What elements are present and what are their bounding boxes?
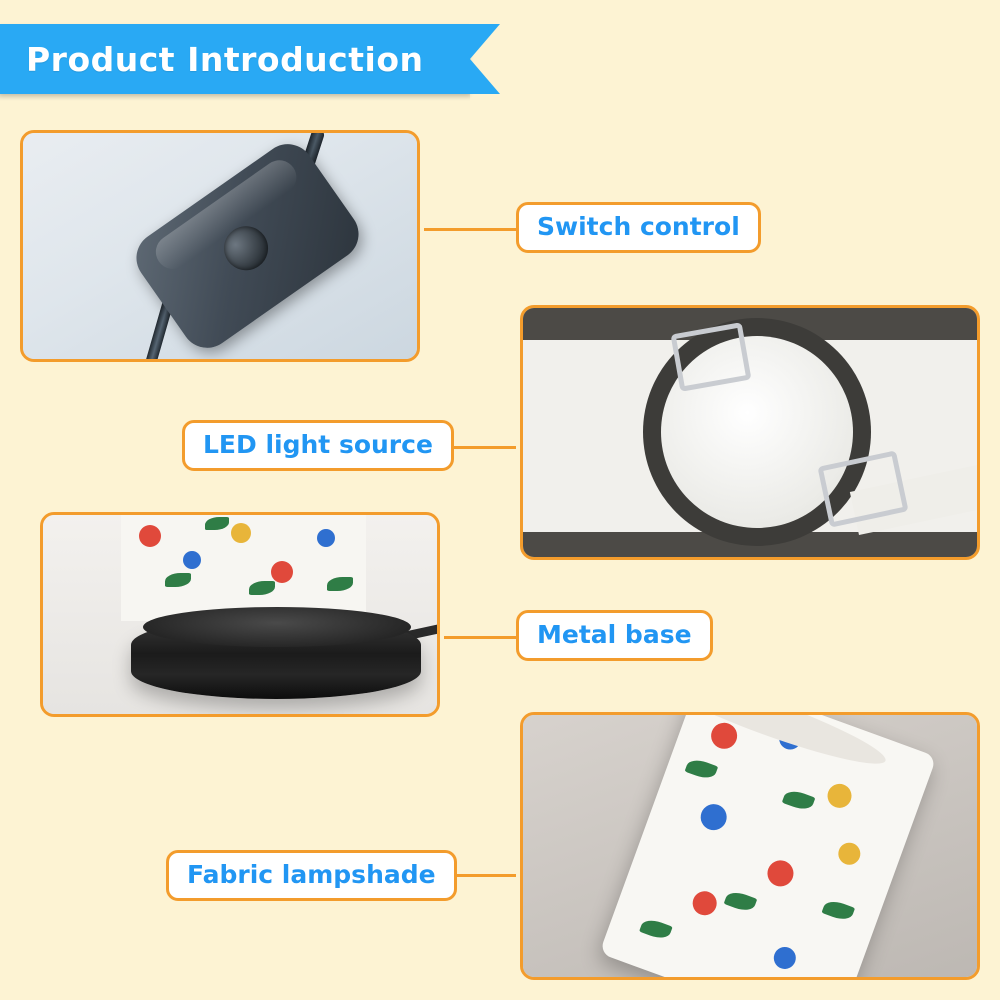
page-title: Product Introduction bbox=[0, 40, 424, 79]
flower-motif bbox=[771, 944, 799, 972]
led-light-source-photo bbox=[520, 305, 980, 560]
leaf-motif bbox=[821, 898, 855, 923]
leaf-motif bbox=[205, 517, 229, 530]
leaf-motif bbox=[639, 916, 673, 941]
flower-motif bbox=[183, 551, 201, 569]
metal-base-photo bbox=[40, 512, 440, 717]
shade-clip-icon-top bbox=[671, 322, 752, 392]
flower-motif bbox=[317, 529, 335, 547]
flower-motif bbox=[231, 523, 251, 543]
connector-metal-base bbox=[444, 636, 516, 639]
connector-switch-control bbox=[424, 228, 516, 231]
leaf-motif bbox=[782, 788, 816, 813]
switch-push-button-icon bbox=[215, 218, 276, 279]
leaf-motif bbox=[249, 581, 275, 595]
label-metal-base: Metal base bbox=[516, 610, 713, 661]
leaf-motif bbox=[165, 573, 191, 587]
switch-control-photo bbox=[20, 130, 420, 362]
leaf-motif bbox=[724, 889, 758, 914]
flower-motif bbox=[824, 781, 855, 812]
floral-shade-bottom bbox=[121, 512, 366, 621]
label-fabric-lampshade: Fabric lampshade bbox=[166, 850, 457, 901]
header-banner-shadow bbox=[0, 94, 470, 101]
metal-base-top-surface bbox=[143, 607, 411, 647]
header-banner: Product Introduction bbox=[0, 24, 470, 94]
flower-motif bbox=[271, 561, 293, 583]
label-led-light-source: LED light source bbox=[182, 420, 454, 471]
label-switch-control: Switch control bbox=[516, 202, 761, 253]
leaf-motif bbox=[685, 756, 719, 781]
leaf-motif bbox=[327, 577, 353, 591]
flower-motif bbox=[689, 888, 720, 919]
flower-motif bbox=[835, 840, 863, 868]
header-banner-notch bbox=[470, 24, 500, 94]
fabric-lampshade-photo bbox=[520, 712, 980, 980]
flower-motif bbox=[764, 857, 797, 890]
flower-motif bbox=[697, 800, 730, 833]
flower-motif bbox=[139, 525, 161, 547]
